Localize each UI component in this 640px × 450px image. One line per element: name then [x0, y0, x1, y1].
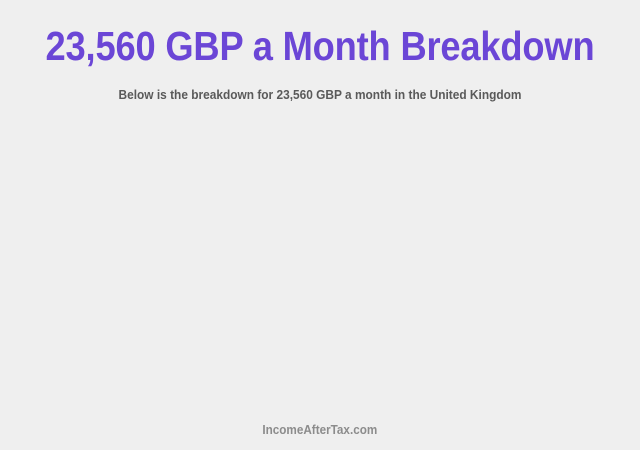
- page-subtitle: Below is the breakdown for 23,560 GBP a …: [27, 86, 613, 103]
- page-root: 23,560 GBP a Month Breakdown Below is th…: [0, 0, 640, 450]
- breakdown-content-area: [0, 112, 640, 408]
- footer-brand-label: IncomeAfterTax.com: [263, 422, 378, 438]
- page-footer: IncomeAfterTax.com: [0, 421, 640, 439]
- page-title: 23,560 GBP a Month Breakdown: [37, 24, 603, 68]
